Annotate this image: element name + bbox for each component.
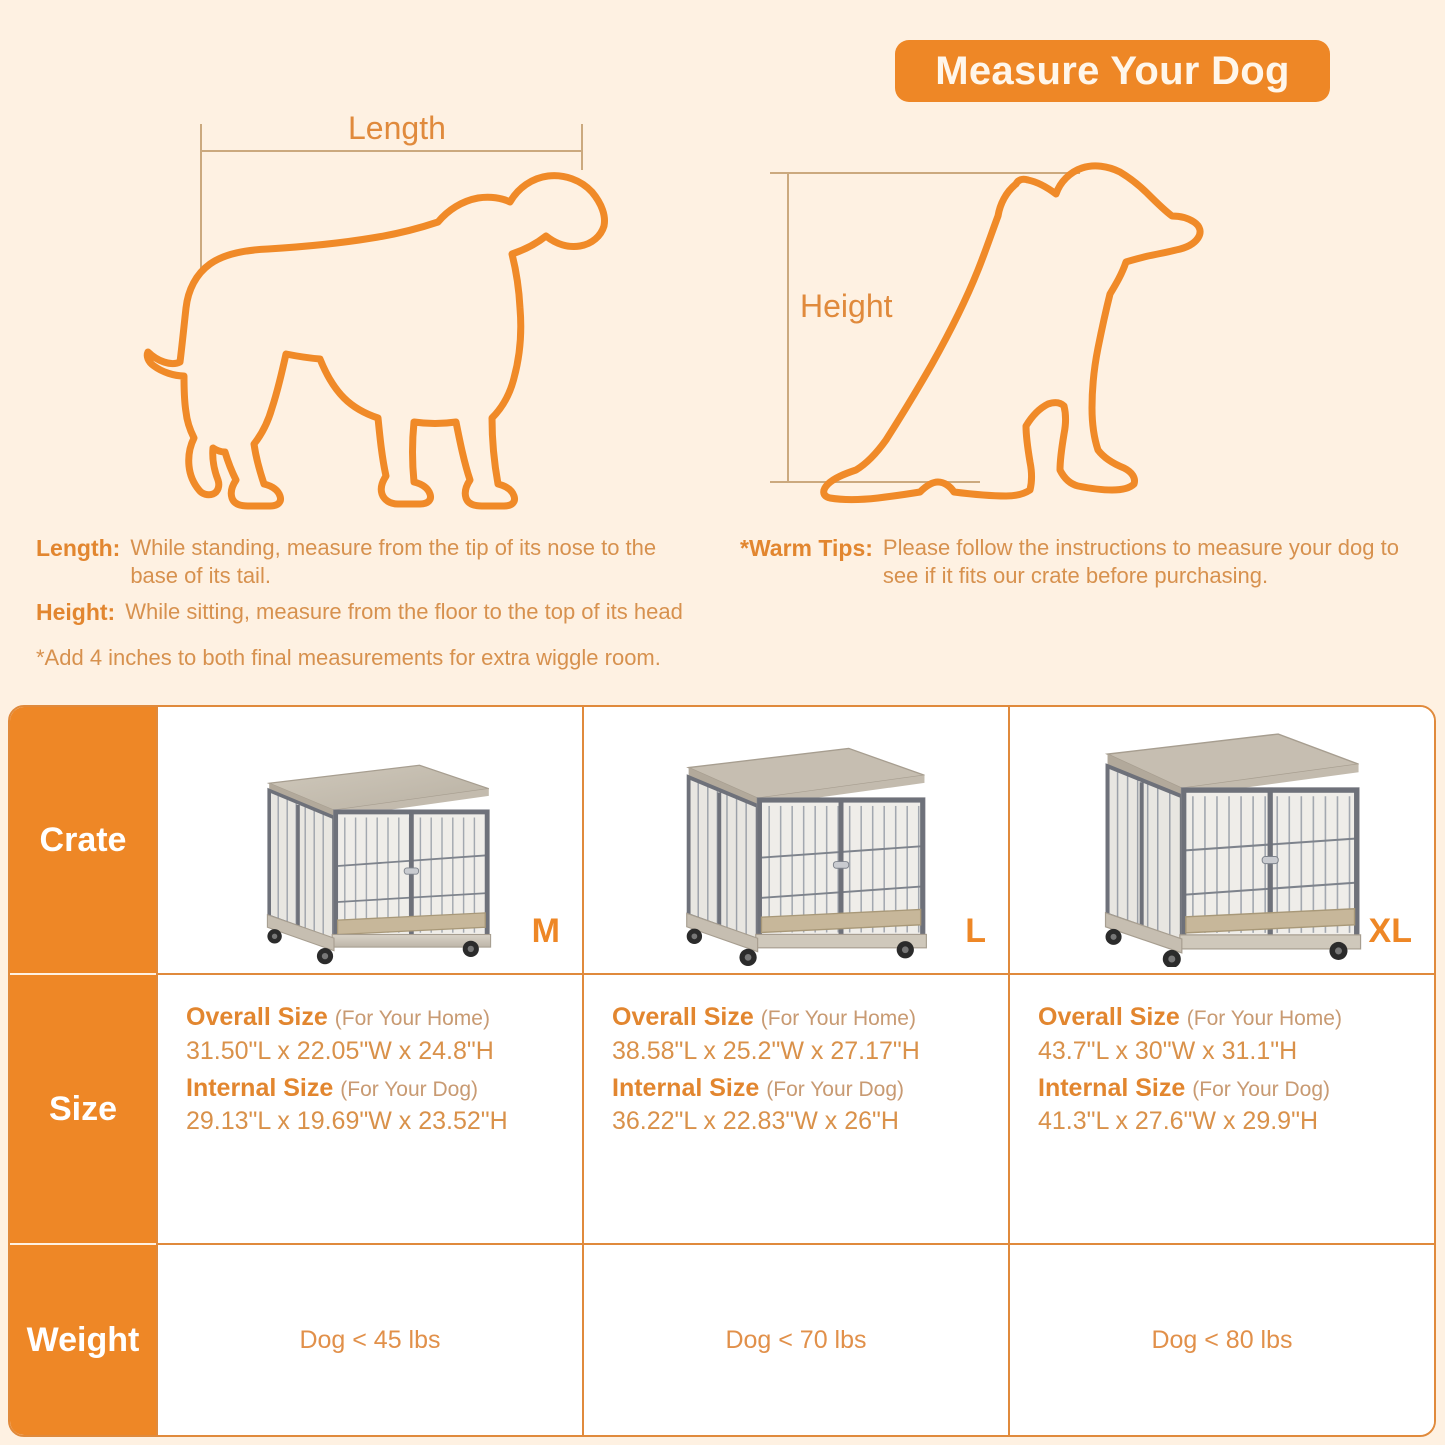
standing-dog-outline-icon xyxy=(140,150,610,510)
instruction-length-row: Length: While standing, measure from the… xyxy=(36,534,706,590)
overall-dims-l: 38.58"L x 25.2"W x 27.17"H xyxy=(612,1034,1008,1072)
crate-size-tag-l: L xyxy=(965,912,986,951)
instruction-height-key: Height: xyxy=(36,598,125,627)
row-header-weight-label: Weight xyxy=(27,1321,140,1360)
size-cell-m: Overall Size(For Your Home) 31.50"L x 22… xyxy=(156,975,582,1245)
overall-dims-m: 31.50"L x 22.05"W x 24.8"H xyxy=(186,1034,582,1072)
measurement-diagram-area: Length Height xyxy=(0,0,1445,520)
instruction-height-value: While sitting, measure from the floor to… xyxy=(125,598,683,626)
row-header-weight: Weight xyxy=(10,1245,156,1435)
warm-tips-value: Please follow the instructions to measur… xyxy=(883,534,1430,590)
row-header-size: Size xyxy=(10,975,156,1245)
internal-dims-m: 29.13"L x 19.69"W x 23.52"H xyxy=(186,1104,582,1142)
internal-size-note-m: (For Your Dog) xyxy=(333,1078,478,1101)
internal-size-text-l: Internal Size xyxy=(612,1074,759,1102)
size-cell-xl: Overall Size(For Your Home) 43.7"L x 30"… xyxy=(1008,975,1434,1245)
internal-size-label-m: Internal Size(For Your Dog) xyxy=(186,1072,582,1105)
weight-cell-l: Dog < 70 lbs xyxy=(582,1245,1008,1435)
internal-size-label-xl: Internal Size(For Your Dog) xyxy=(1038,1072,1434,1105)
row-header-crate: Crate xyxy=(10,707,156,975)
dog-crate-image-xl xyxy=(1057,724,1387,967)
internal-size-note-l: (For Your Dog) xyxy=(759,1078,904,1101)
overall-size-text-l: Overall Size xyxy=(612,1003,754,1031)
crate-cell-xl: XL xyxy=(1008,707,1434,975)
overall-size-label-xl: Overall Size(For Your Home) xyxy=(1038,1001,1434,1034)
sitting-dog-outline-icon xyxy=(820,160,1240,505)
weight-cell-m: Dog < 45 lbs xyxy=(156,1245,582,1435)
overall-size-note-m: (For Your Home) xyxy=(328,1007,490,1030)
row-header-crate-label: Crate xyxy=(40,821,127,860)
dog-crate-image-l xyxy=(641,735,951,967)
overall-dims-xl: 43.7"L x 30"W x 31.1"H xyxy=(1038,1034,1434,1072)
internal-size-text-xl: Internal Size xyxy=(1038,1074,1185,1102)
overall-size-label-m: Overall Size(For Your Home) xyxy=(186,1001,582,1034)
internal-size-label-l: Internal Size(For Your Dog) xyxy=(612,1072,1008,1105)
dog-crate-image-m xyxy=(235,749,505,967)
overall-size-text-m: Overall Size xyxy=(186,1003,328,1031)
internal-size-note-xl: (For Your Dog) xyxy=(1185,1078,1330,1101)
internal-dims-xl: 41.3"L x 27.6"W x 29.9"H xyxy=(1038,1104,1434,1142)
overall-size-note-xl: (For Your Home) xyxy=(1180,1007,1342,1030)
weight-cell-xl: Dog < 80 lbs xyxy=(1008,1245,1434,1435)
weight-value-l: Dog < 70 lbs xyxy=(725,1326,866,1355)
instruction-height-row: Height: While sitting, measure from the … xyxy=(36,598,706,627)
warm-tips-key: *Warm Tips: xyxy=(740,534,883,563)
row-header-size-label: Size xyxy=(49,1090,117,1129)
instruction-length-key: Length: xyxy=(36,534,130,563)
measurement-instructions-left: Length: While standing, measure from the… xyxy=(36,534,706,672)
weight-value-m: Dog < 45 lbs xyxy=(299,1326,440,1355)
overall-size-text-xl: Overall Size xyxy=(1038,1003,1180,1031)
internal-dims-l: 36.22"L x 22.83"W x 26"H xyxy=(612,1104,1008,1142)
crate-cell-m: M xyxy=(156,707,582,975)
overall-size-note-l: (For Your Home) xyxy=(754,1007,916,1030)
weight-value-xl: Dog < 80 lbs xyxy=(1151,1326,1292,1355)
crate-cell-l: L xyxy=(582,707,1008,975)
size-cell-l: Overall Size(For Your Home) 38.58"L x 25… xyxy=(582,975,1008,1245)
internal-size-text-m: Internal Size xyxy=(186,1074,333,1102)
overall-size-label-l: Overall Size(For Your Home) xyxy=(612,1001,1008,1034)
crate-size-tag-m: M xyxy=(532,912,560,951)
crate-size-tag-xl: XL xyxy=(1369,912,1412,951)
warm-tips-block: *Warm Tips: Please follow the instructio… xyxy=(740,534,1430,598)
warm-tips-row: *Warm Tips: Please follow the instructio… xyxy=(740,534,1430,590)
instruction-note: *Add 4 inches to both final measurements… xyxy=(36,644,706,672)
height-guide-vertical xyxy=(787,172,789,482)
crate-spec-table: Crate xyxy=(8,705,1436,1437)
instruction-length-value: While standing, measure from the tip of … xyxy=(130,534,706,590)
length-label: Length xyxy=(348,110,446,147)
